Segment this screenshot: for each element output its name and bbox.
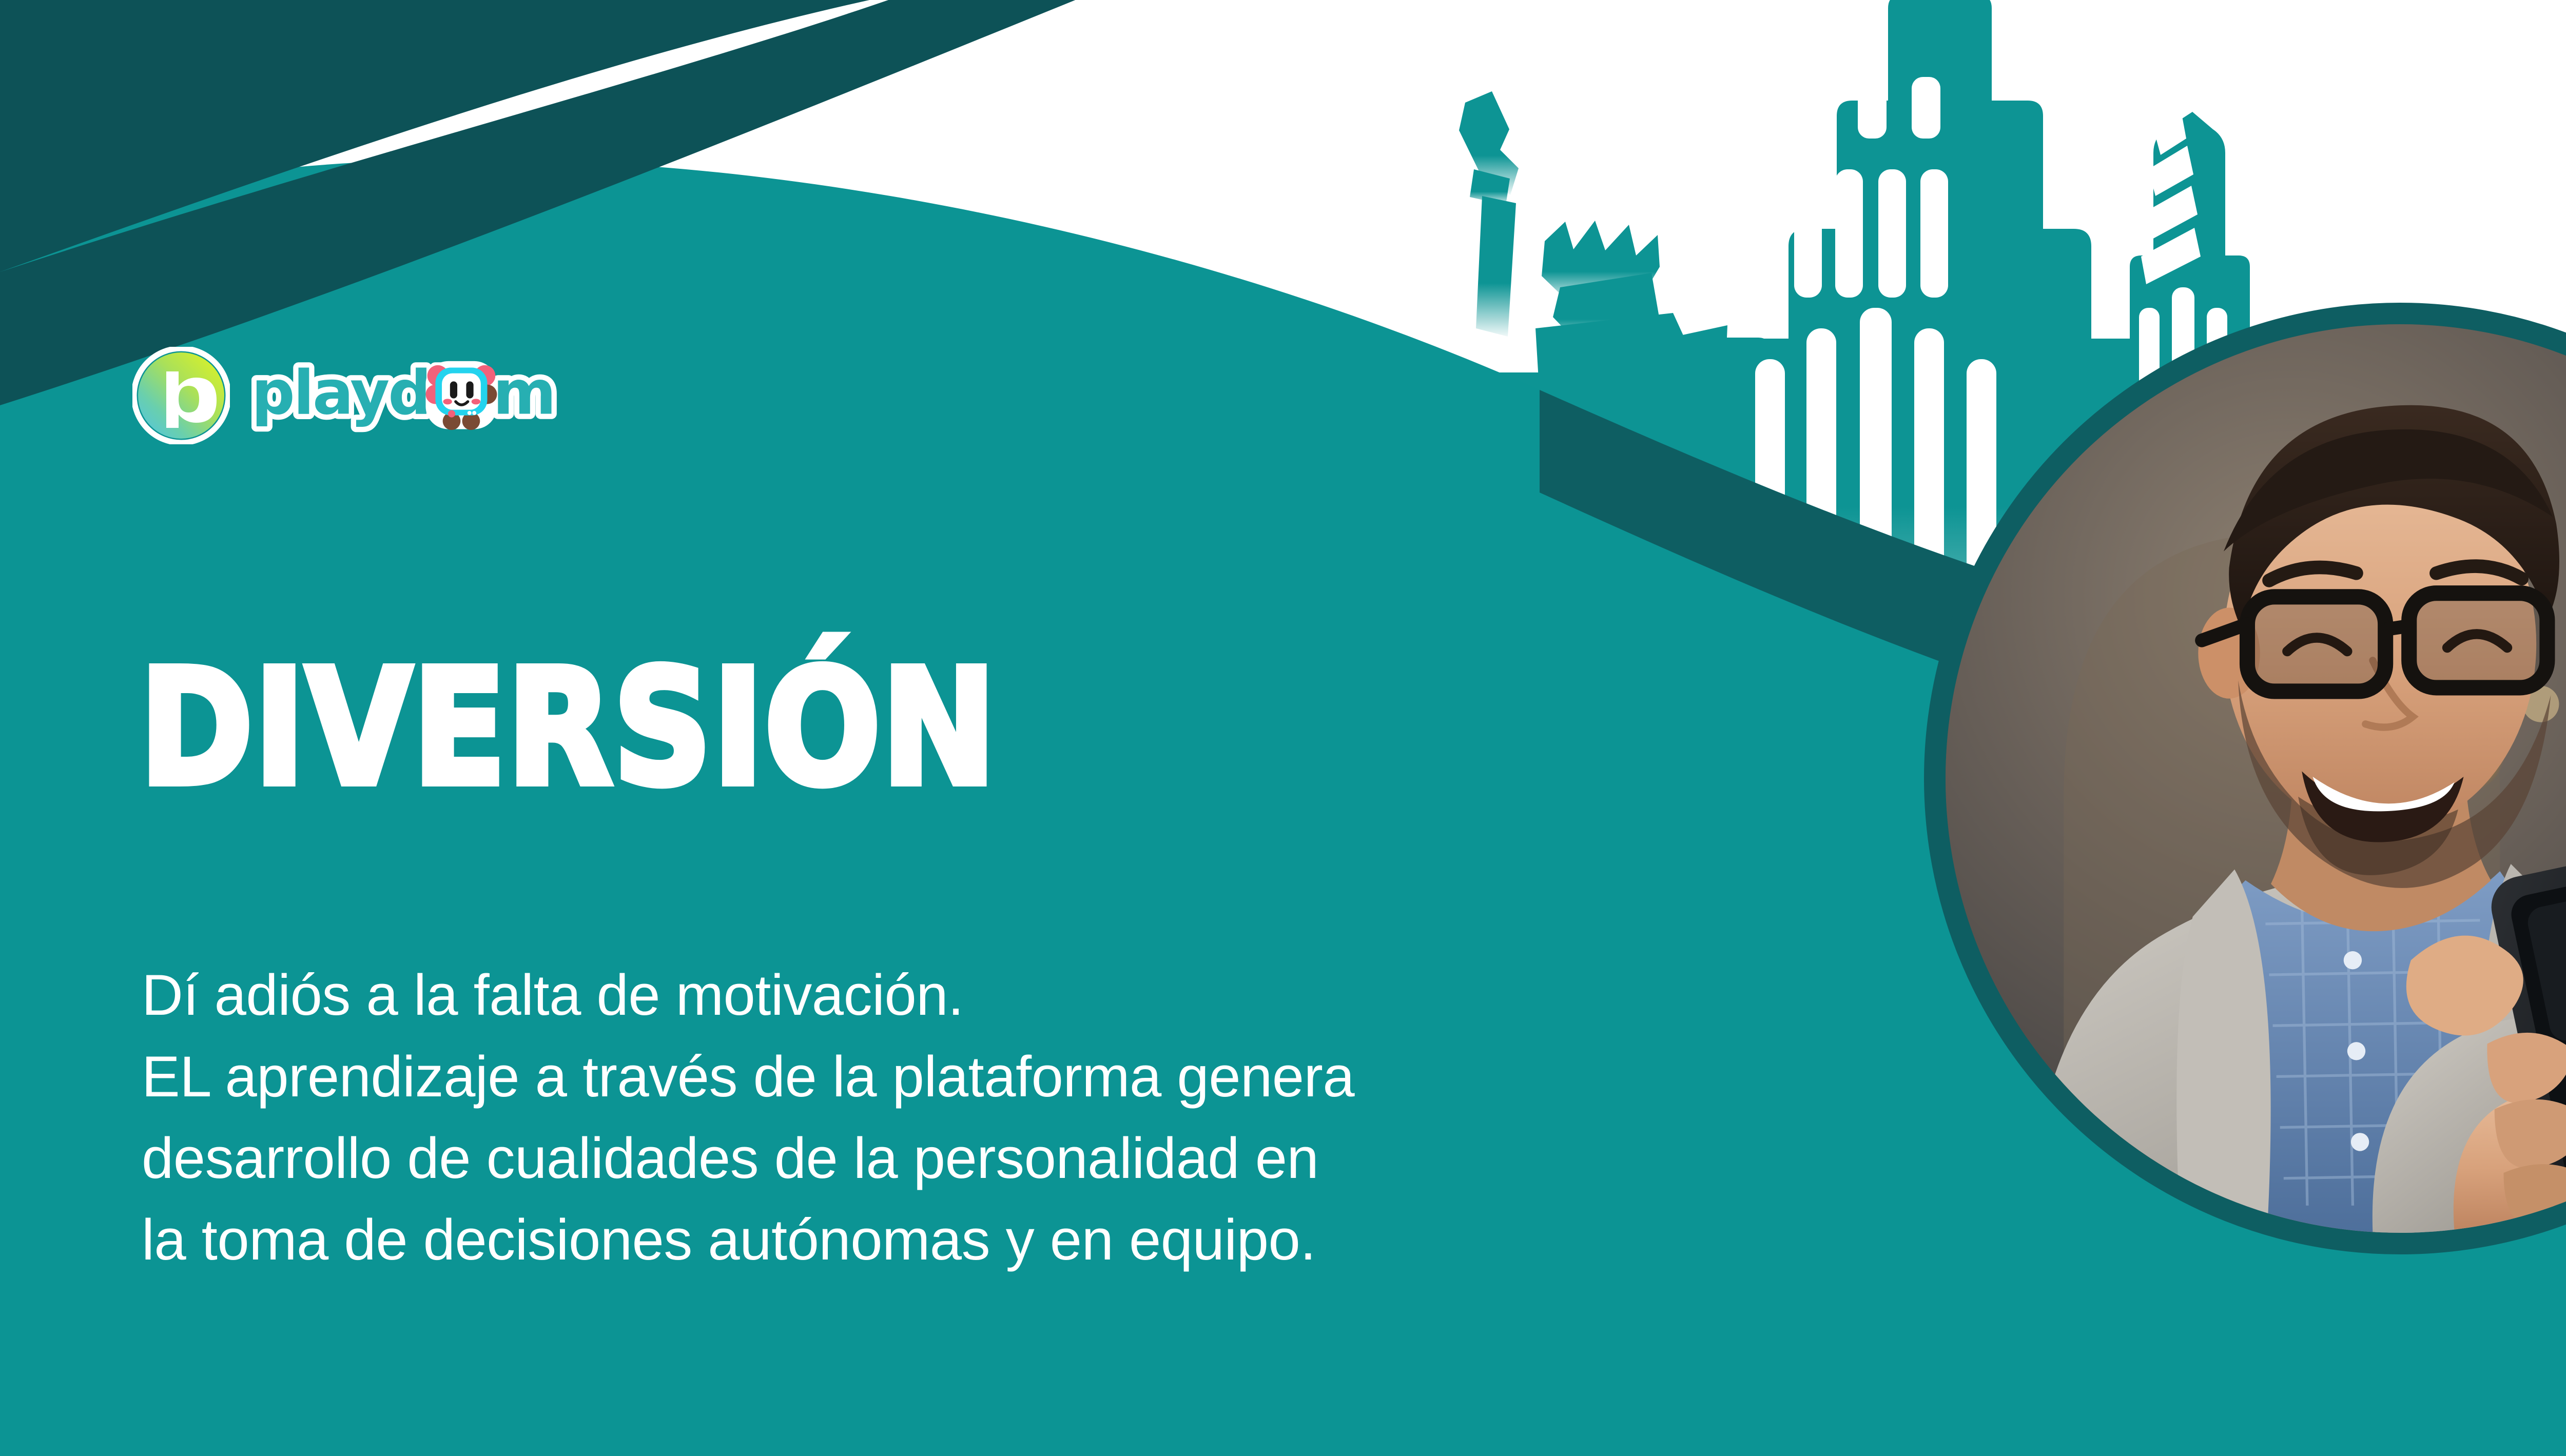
body-line-1: Dí adiós a la falta de motivación. — [142, 954, 1354, 1036]
playdiom-logo-mark — [132, 347, 230, 444]
wordmark-fill-left: playdi — [251, 358, 449, 428]
wordmark-fill-m: m — [493, 358, 555, 428]
playdiom-wordmark: playdi playdi m m — [251, 357, 576, 434]
playdiom-logo[interactable]: playdi playdi m m — [132, 347, 576, 444]
promo-banner: playdi playdi m m — [0, 0, 2566, 1456]
robot-mascot-icon — [425, 361, 497, 430]
page-title: DIVERSIÓN — [140, 651, 997, 806]
body-line-3: desarrollo de cualidades de la personali… — [142, 1117, 1354, 1199]
body-line-2: EL aprendizaje a través de la plataforma… — [142, 1036, 1354, 1117]
photo-illustration — [1946, 324, 2566, 1233]
body-line-4: la toma de decisiones autónomas y en equ… — [142, 1199, 1354, 1281]
body-copy: Dí adiós a la falta de motivación. EL ap… — [142, 954, 1354, 1281]
hero-photo — [1924, 303, 2566, 1254]
p-circle-icon — [132, 347, 230, 444]
